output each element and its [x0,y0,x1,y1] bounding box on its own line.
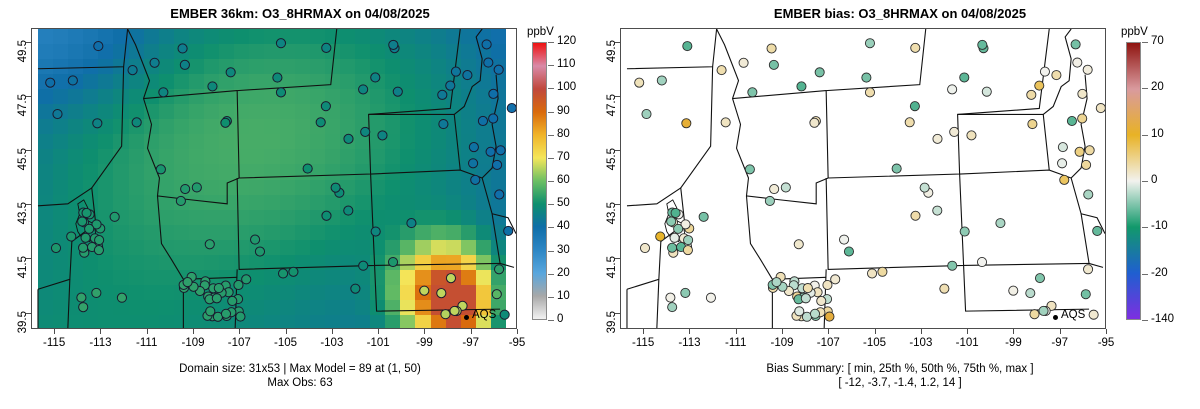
station-marker [446,274,455,283]
station-marker [911,43,920,52]
colorbar-tick-label: 20 [557,267,570,279]
station-marker [371,73,380,82]
colorbar-tick-label: 100 [557,81,576,93]
station-marker [1075,147,1084,156]
x-axis-tick [967,329,968,334]
station-marker [242,275,251,284]
station-marker [1030,310,1039,319]
station-marker [977,257,986,266]
station-marker [67,232,76,241]
station-marker [670,233,679,242]
station-marker [950,127,959,136]
x-axis-tick [147,329,148,334]
x-axis-label: -109 [759,337,805,349]
station-marker [93,119,102,128]
y-axis-label: 49.5 [606,40,618,80]
station-marker [371,227,380,236]
station-marker [351,284,360,293]
colorbar-unit-bias: ppbV [1121,26,1148,38]
x-axis-label: -99 [401,337,447,349]
station-marker [77,293,86,302]
station-marker [1085,146,1094,155]
station-marker [1081,160,1090,169]
station-marker [214,283,223,292]
station-marker [212,294,221,303]
colorbar-tick-label: -10 [1151,220,1168,232]
station-marker [471,175,480,184]
station-marker [156,165,165,174]
station-marker [683,42,692,51]
station-marker [205,240,214,249]
station-marker [911,211,920,220]
x-axis-tick [424,329,425,334]
station-marker [867,269,876,278]
station-marker [1060,175,1069,184]
station-marker [420,286,429,295]
station-marker [451,67,460,76]
station-marker [1040,67,1049,76]
station-marker [765,196,774,205]
station-marker [494,65,503,74]
station-marker [706,293,715,302]
x-axis-label: -111 [713,337,759,349]
station-marker [81,233,90,242]
colorbar-tick-label: 90 [557,105,570,117]
colorbar-tick-label: 0 [1151,174,1157,186]
station-marker [801,294,810,303]
station-marker [344,206,353,215]
colorbar-gradient-bias [1126,42,1141,320]
x-axis-tick [1013,329,1014,334]
station-marker [948,85,957,94]
colorbar-tick-label: 80 [557,128,570,140]
station-marker [839,235,848,244]
station-marker [407,219,416,228]
x-axis-label: -95 [1083,337,1129,349]
station-marker [463,71,472,80]
station-marker [635,78,644,87]
x-axis-label: -103 [898,337,944,349]
station-marker [892,164,901,173]
y-axis-label: 39.5 [606,311,618,351]
station-marker [468,159,477,168]
station-marker [933,206,942,215]
footer-model-line2: Max Obs: 63 [0,377,600,389]
colorbar-tick [548,112,554,113]
station-marker [482,40,491,49]
station-marker [699,212,708,221]
colorbar-tick [548,65,554,66]
station-marker [79,243,88,252]
y-axis-label: 41.5 [606,256,618,296]
station-marker [748,88,757,97]
station-marker [640,243,649,252]
station-marker [1052,71,1061,80]
station-marker [322,43,331,52]
colorbar-tick-label: 50 [557,197,570,209]
station-marker [681,288,690,297]
station-marker [657,76,666,85]
x-axis-tick [471,329,472,334]
y-axis-label: 39.5 [17,311,29,351]
x-axis-tick [736,329,737,334]
station-marker [1009,286,1018,295]
station-marker [492,160,501,169]
x-axis-label: -97 [448,337,494,349]
colorbar-tick-label: 20 [1151,81,1164,93]
station-marker [289,267,298,276]
station-marker [181,184,190,193]
x-axis-tick [643,329,644,334]
station-marker [905,118,914,127]
station-marker [933,134,942,143]
station-marker [684,236,693,245]
station-marker [795,307,804,316]
y-axis-label: 43.5 [17,202,29,242]
colorbar-tick [1142,227,1148,228]
station-marker [437,289,446,298]
footer-bias-line2: [ -12, -3.7, -1.4, 1.2, 14 ] [600,377,1200,389]
footer-model-line1: Domain size: 31x53 | Max Model = 89 at (… [0,363,600,375]
station-marker [656,232,665,241]
station-marker [823,280,832,289]
station-marker [1073,58,1082,67]
panel-title-model: EMBER 36km: O3_8HRMAX on 04/08/2025 [0,6,600,21]
station-marker [388,257,397,266]
station-marker [960,227,969,236]
aqs-marker-label-model: AQS [472,309,496,321]
station-marker [810,118,819,127]
station-marker [1084,190,1093,199]
station-marker [642,109,651,118]
station-marker [321,102,330,111]
station-marker [996,219,1005,228]
station-marker [865,88,874,97]
colorbar-tick-label: 110 [557,58,575,70]
station-marker [1035,274,1044,283]
colorbar-gradient-model [532,42,547,320]
station-marker [110,212,119,221]
station-marker [492,290,501,299]
station-marker [359,85,368,94]
station-marker [180,60,189,69]
colorbar-tick-label: -20 [1151,267,1168,279]
station-marker [825,312,834,321]
station-marker [770,184,779,193]
station-marker [273,73,282,82]
station-marker [489,114,498,123]
bias-station-markers [621,29,1105,328]
x-axis-label: -97 [1037,337,1083,349]
station-marker [128,66,137,75]
station-marker [361,127,370,136]
station-marker [484,58,493,67]
station-marker [192,183,201,192]
x-axis-label: -109 [170,337,216,349]
station-marker [1058,143,1067,152]
station-marker [489,89,498,98]
station-marker [1057,159,1066,168]
x-axis-tick [921,329,922,334]
station-marker [378,131,387,140]
station-marker [1067,116,1076,125]
station-marker [878,267,887,276]
station-marker [781,183,790,192]
x-axis-label: -107 [216,337,262,349]
station-marker [507,104,516,113]
station-marker [359,261,368,270]
colorbar-tick-label: 0 [557,313,563,325]
station-marker [53,109,62,118]
colorbar-tick [548,181,554,182]
station-marker [234,280,243,289]
colorbar-tick [548,320,554,321]
station-marker [494,265,503,274]
station-marker [1096,104,1105,113]
colorbar-tick [1142,88,1148,89]
y-axis-label: 47.5 [606,94,618,134]
map-bias: AQS [620,28,1106,329]
station-marker [910,102,919,111]
x-axis-label: -95 [494,337,540,349]
station-marker [303,164,312,173]
colorbar-tick-label: 120 [557,35,576,47]
station-marker [450,306,459,315]
colorbar-tick-label: -140 [1151,313,1174,325]
x-axis-tick [54,329,55,334]
x-axis-label: -113 [77,337,123,349]
station-marker [683,246,692,255]
x-axis-tick [378,329,379,334]
x-axis-label: -101 [355,337,401,349]
colorbar-tick-label: 70 [557,151,570,163]
station-marker [1083,65,1092,74]
station-marker [1078,89,1087,98]
colorbar-tick [548,297,554,298]
station-marker [278,269,287,278]
station-marker [500,310,509,319]
station-marker [438,90,447,99]
station-marker [1083,265,1092,274]
station-marker [221,309,230,318]
x-axis-label: -105 [852,337,898,349]
x-axis-tick [1106,329,1107,334]
x-axis-label: -103 [309,337,355,349]
x-axis-label: -111 [124,337,170,349]
x-axis-tick [782,329,783,334]
y-axis-label: 41.5 [17,256,29,296]
model-station-markers [32,29,516,328]
station-marker [226,68,235,77]
station-marker [51,243,60,252]
y-axis-label: 45.5 [606,148,618,188]
colorbar-tick [548,158,554,159]
station-marker [671,208,680,217]
station-marker [862,73,871,82]
map-model: AQS [31,28,517,329]
x-axis-label: -115 [31,337,77,349]
station-marker [1035,81,1044,90]
station-marker [79,303,88,312]
station-marker [78,217,87,226]
colorbar-tick-label: 30 [557,244,570,256]
station-marker [1071,40,1080,49]
station-marker [495,190,504,199]
colorbar-tick [548,251,554,252]
station-marker [331,183,340,192]
x-axis-tick [689,329,690,334]
x-axis-label: -107 [805,337,851,349]
colorbar-tick [1142,274,1148,275]
x-axis-label: -99 [990,337,1036,349]
y-axis-label: 49.5 [17,40,29,80]
station-marker [478,116,487,125]
station-marker [1093,226,1102,235]
colorbar-tick-label: 10 [557,290,570,302]
station-marker [815,68,824,77]
panel-model: EMBER 36km: O3_8HRMAX on 04/08/2025 [0,0,600,409]
x-axis-label: -115 [620,337,666,349]
station-marker [721,118,730,127]
y-axis-label: 43.5 [606,202,618,242]
station-marker [46,78,55,87]
station-marker [316,118,325,127]
station-marker [82,208,91,217]
station-marker [132,118,141,127]
station-marker [769,60,778,69]
station-marker [767,44,776,53]
station-marker [978,40,987,49]
x-axis-tick [100,329,101,334]
x-axis-label: -113 [666,337,712,349]
station-marker [745,165,754,174]
station-marker [94,246,103,255]
station-marker [228,296,237,305]
station-marker [276,39,285,48]
station-marker [865,39,874,48]
station-marker [150,58,159,67]
station-marker [1039,306,1048,315]
station-marker [668,303,677,312]
station-marker [667,217,676,226]
station-marker [1027,90,1036,99]
station-marker [117,293,126,302]
aqs-marker-dot-bias [1053,315,1058,320]
x-axis-label: -105 [263,337,309,349]
station-marker [469,143,478,152]
footer-bias-line1: Bias Summary: [ min, 25th %, 50th %, 75t… [600,363,1200,375]
colorbar-tick-label: 10 [1151,128,1164,140]
colorbar-tick [548,135,554,136]
station-marker [250,235,259,244]
station-marker [208,82,217,91]
panel-title-bias: EMBER bias: O3_8HRMAX on 04/08/2025 [600,6,1200,21]
colorbar-tick [548,274,554,275]
panel-bias: EMBER bias: O3_8HRMAX on 04/08/2025 [600,0,1200,409]
station-marker [1026,289,1035,298]
station-marker [393,87,402,96]
station-marker [803,283,812,292]
station-marker [92,288,101,297]
station-marker [68,76,77,85]
station-marker [1078,114,1087,123]
x-axis-tick [286,329,287,334]
station-marker [159,88,168,97]
station-marker [276,88,285,97]
station-marker [1028,119,1037,128]
station-marker [255,247,264,256]
station-marker [940,284,949,293]
station-marker [810,309,819,318]
station-marker [948,261,957,270]
station-marker [504,226,513,235]
station-marker [1081,290,1090,299]
colorbar-tick [548,204,554,205]
station-marker [739,58,748,67]
station-marker [982,87,991,96]
station-marker [817,296,826,305]
x-axis-tick [875,329,876,334]
station-marker [797,82,806,91]
colorbar-tick [1142,42,1148,43]
colorbar-tick-label: 60 [557,174,570,186]
station-marker [94,42,103,51]
station-marker [176,196,185,205]
station-marker [322,211,331,220]
station-marker [236,312,245,321]
station-marker [85,224,94,233]
station-marker [441,310,450,319]
station-marker [446,81,455,90]
colorbar-tick-label: 70 [1151,35,1164,47]
colorbar-tick [548,42,554,43]
station-marker [674,224,683,233]
station-marker [772,278,781,287]
aqs-marker-dot-model [464,315,469,320]
station-marker [496,146,505,155]
colorbar-unit-model: ppbV [527,26,554,38]
station-marker [183,278,192,287]
y-axis-label: 47.5 [17,94,29,134]
station-marker [717,66,726,75]
x-axis-label: -101 [944,337,990,349]
x-axis-tick [193,329,194,334]
figure-canvas: EMBER 36km: O3_8HRMAX on 04/08/2025 [0,0,1200,409]
station-marker [794,240,803,249]
y-axis-label: 45.5 [17,148,29,188]
colorbar-tick-label: 40 [557,220,570,232]
station-marker [178,44,187,53]
station-marker [439,119,448,128]
station-marker [920,183,929,192]
colorbar-tick [548,88,554,89]
station-marker [95,236,104,245]
station-marker [831,275,840,284]
x-axis-tick [828,329,829,334]
station-marker [668,243,677,252]
station-marker [844,247,853,256]
station-marker [682,119,691,128]
colorbar-tick [1142,135,1148,136]
station-marker [1089,310,1098,319]
station-marker [206,307,215,316]
colorbar-tick [1142,320,1148,321]
colorbar-tick [548,227,554,228]
station-marker [221,118,230,127]
station-marker [960,73,969,82]
station-marker [967,131,976,140]
station-marker [389,40,398,49]
